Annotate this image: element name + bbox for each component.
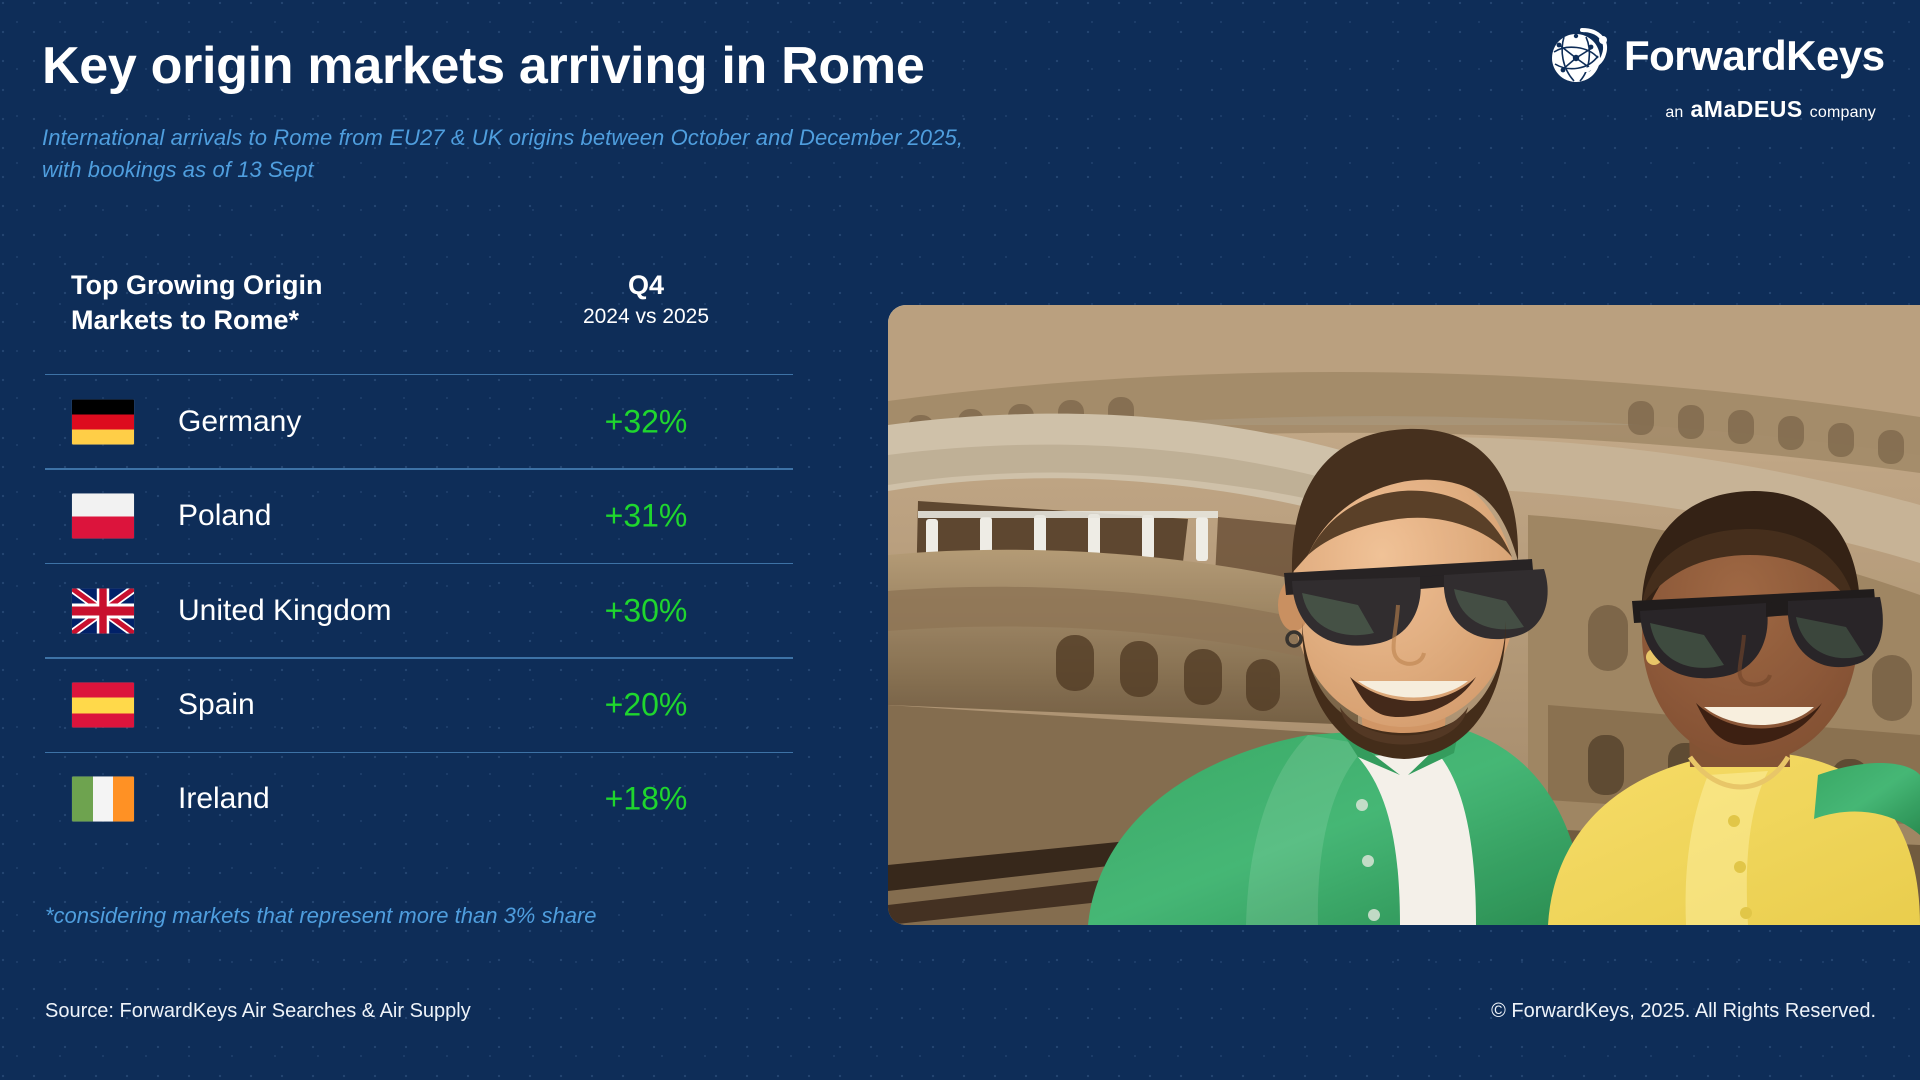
- logo-tagline: an aMaDEUS company: [1546, 96, 1876, 123]
- country-name: United Kingdom: [178, 594, 391, 628]
- country-name: Spain: [178, 688, 255, 722]
- flag-ireland-icon: [72, 777, 134, 822]
- globe-network-icon: [1546, 24, 1610, 88]
- table-header-q4: Q4: [541, 268, 751, 302]
- table-footnote: *considering markets that represent more…: [45, 903, 597, 929]
- country-name: Poland: [178, 499, 271, 533]
- forwardkeys-logo: ForwardKeys an aMaDEUS company: [1546, 22, 1876, 132]
- growth-value: +31%: [541, 498, 751, 535]
- growth-value: +30%: [541, 592, 751, 629]
- flag-germany-icon: [72, 399, 134, 444]
- growth-value: +18%: [541, 781, 751, 818]
- top-growing-markets-table: Top Growing OriginMarkets to Rome* Q4 20…: [45, 262, 793, 846]
- growth-value: +32%: [541, 403, 751, 440]
- logo-wordmark: ForwardKeys: [1624, 35, 1885, 77]
- growth-value: +20%: [541, 687, 751, 724]
- page-title: Key origin markets arriving in Rome: [42, 36, 924, 96]
- country-name: Ireland: [178, 782, 270, 816]
- table-row[interactable]: Spain +20%: [45, 659, 793, 752]
- table-row[interactable]: Ireland +18%: [45, 753, 793, 846]
- colosseum-selfie-photo: [888, 305, 1920, 925]
- page-subtitle: International arrivals to Rome from EU27…: [42, 122, 1002, 186]
- country-name: Germany: [178, 405, 301, 439]
- table-header-quarter: Q4 2024 vs 2025: [541, 268, 751, 332]
- flag-spain-icon: [72, 683, 134, 728]
- source-text: Source: ForwardKeys Air Searches & Air S…: [45, 1000, 471, 1023]
- logo-tagline-suffix: company: [1810, 104, 1876, 122]
- table-row[interactable]: Poland +31%: [45, 470, 793, 563]
- flag-poland-icon: [72, 494, 134, 539]
- logo-tagline-prefix: an: [1665, 104, 1683, 122]
- copyright-text: © ForwardKeys, 2025. All Rights Reserved…: [1491, 1000, 1876, 1023]
- table-row[interactable]: United Kingdom +30%: [45, 564, 793, 657]
- table-row[interactable]: Germany +32%: [45, 375, 793, 468]
- table-header-years: 2024 vs 2025: [541, 302, 751, 332]
- flag-uk-icon: [72, 588, 134, 633]
- table-header: Top Growing OriginMarkets to Rome* Q4 20…: [45, 262, 793, 374]
- table-header-markets: Top Growing OriginMarkets to Rome*: [71, 268, 322, 338]
- logo-tagline-brand: aMaDEUS: [1691, 96, 1803, 123]
